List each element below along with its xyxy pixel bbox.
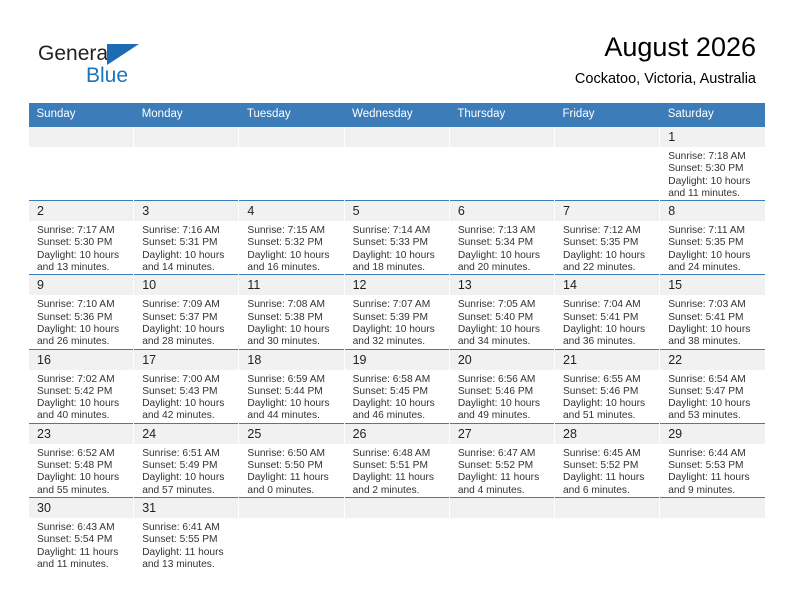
weekday-header-friday: Friday — [555, 103, 660, 127]
calendar-day-sunset-line: Sunset: 5:55 PM — [142, 534, 234, 546]
calendar-day-number: 26 — [345, 424, 449, 445]
weekday-header-tuesday: Tuesday — [239, 103, 344, 127]
calendar-day-info: Sunrise: 7:00 AMSunset: 5:43 PMDaylight:… — [134, 371, 238, 423]
calendar-day-sunrise-line: Sunrise: 7:02 AM — [37, 374, 129, 386]
calendar-day-info: Sunrise: 7:04 AMSunset: 5:41 PMDaylight:… — [555, 296, 659, 348]
calendar-day-number: 1 — [660, 127, 765, 148]
calendar-day-cell[interactable]: 27Sunrise: 6:47 AMSunset: 5:52 PMDayligh… — [449, 423, 554, 497]
calendar-day-number: 7 — [555, 201, 659, 222]
calendar-day-cell[interactable]: 6Sunrise: 7:13 AMSunset: 5:34 PMDaylight… — [449, 201, 554, 275]
calendar-day-daylight-line: and 57 minutes. — [142, 485, 234, 497]
calendar-day-daylight-line: Daylight: 11 hours — [353, 472, 445, 484]
calendar-day-sunrise-line: Sunrise: 7:18 AM — [668, 151, 761, 163]
calendar-day-cell[interactable]: 13Sunrise: 7:05 AMSunset: 5:40 PMDayligh… — [449, 275, 554, 349]
calendar-day-number: 18 — [239, 350, 343, 371]
calendar-day-daylight-line: Daylight: 10 hours — [668, 176, 761, 188]
calendar-day-number: 15 — [660, 275, 765, 296]
calendar-day-sunrise-line: Sunrise: 6:55 AM — [563, 374, 655, 386]
calendar-day-sunset-line: Sunset: 5:38 PM — [247, 312, 339, 324]
calendar-day-daylight-line: Daylight: 10 hours — [668, 250, 761, 262]
calendar-day-cell-empty — [555, 497, 660, 571]
calendar-day-number: 3 — [134, 201, 238, 222]
calendar-day-cell[interactable]: 21Sunrise: 6:55 AMSunset: 5:46 PMDayligh… — [555, 349, 660, 423]
calendar-day-info: Sunrise: 6:55 AMSunset: 5:46 PMDaylight:… — [555, 371, 659, 423]
calendar-day-daylight-line: Daylight: 10 hours — [353, 398, 445, 410]
calendar-day-info: Sunrise: 6:54 AMSunset: 5:47 PMDaylight:… — [660, 371, 765, 423]
calendar-day-sunset-line: Sunset: 5:34 PM — [458, 237, 550, 249]
calendar-day-number: 6 — [450, 201, 554, 222]
calendar-day-daylight-line: Daylight: 11 hours — [668, 472, 761, 484]
calendar-day-sunrise-line: Sunrise: 7:03 AM — [668, 299, 761, 311]
calendar-day-sunset-line: Sunset: 5:32 PM — [247, 237, 339, 249]
calendar-day-daylight-line: and 53 minutes. — [668, 410, 761, 422]
calendar-day-sunset-line: Sunset: 5:42 PM — [37, 386, 129, 398]
calendar-day-number: 30 — [29, 498, 133, 519]
calendar-day-info: Sunrise: 6:51 AMSunset: 5:49 PMDaylight:… — [134, 445, 238, 497]
calendar-day-sunset-line: Sunset: 5:39 PM — [353, 312, 445, 324]
calendar-day-daylight-line: and 28 minutes. — [142, 336, 234, 348]
calendar-day-sunrise-line: Sunrise: 6:56 AM — [458, 374, 550, 386]
calendar-day-sunrise-line: Sunrise: 7:09 AM — [142, 299, 234, 311]
calendar-day-info: Sunrise: 6:45 AMSunset: 5:52 PMDaylight:… — [555, 445, 659, 497]
calendar-day-daylight-line: and 38 minutes. — [668, 336, 761, 348]
calendar-day-number — [239, 127, 343, 148]
calendar-day-daylight-line: and 44 minutes. — [247, 410, 339, 422]
calendar-day-sunset-line: Sunset: 5:53 PM — [668, 460, 761, 472]
calendar-day-cell[interactable]: 16Sunrise: 7:02 AMSunset: 5:42 PMDayligh… — [29, 349, 134, 423]
calendar-day-cell[interactable]: 29Sunrise: 6:44 AMSunset: 5:53 PMDayligh… — [660, 423, 765, 497]
calendar-day-sunset-line: Sunset: 5:33 PM — [353, 237, 445, 249]
calendar-day-daylight-line: and 34 minutes. — [458, 336, 550, 348]
calendar-day-number: 21 — [555, 350, 659, 371]
calendar-day-cell[interactable]: 2Sunrise: 7:17 AMSunset: 5:30 PMDaylight… — [29, 201, 134, 275]
calendar-day-number: 23 — [29, 424, 133, 445]
calendar-day-daylight-line: Daylight: 10 hours — [458, 398, 550, 410]
calendar-day-daylight-line: Daylight: 10 hours — [247, 250, 339, 262]
brand-logo[interactable]: General Blue — [38, 42, 218, 90]
calendar-day-daylight-line: Daylight: 10 hours — [353, 250, 445, 262]
calendar-day-sunrise-line: Sunrise: 6:47 AM — [458, 448, 550, 460]
calendar-day-number — [134, 127, 238, 148]
calendar-day-cell[interactable]: 12Sunrise: 7:07 AMSunset: 5:39 PMDayligh… — [344, 275, 449, 349]
brand-name-blue: Blue — [86, 64, 128, 88]
calendar-day-daylight-line: and 36 minutes. — [563, 336, 655, 348]
calendar-day-sunrise-line: Sunrise: 6:48 AM — [353, 448, 445, 460]
brand-triangle-icon — [107, 44, 139, 65]
calendar-day-cell[interactable]: 22Sunrise: 6:54 AMSunset: 5:47 PMDayligh… — [660, 349, 765, 423]
calendar-day-sunset-line: Sunset: 5:43 PM — [142, 386, 234, 398]
calendar-day-daylight-line: and 26 minutes. — [37, 336, 129, 348]
calendar-day-info: Sunrise: 7:07 AMSunset: 5:39 PMDaylight:… — [345, 296, 449, 348]
calendar-day-info: Sunrise: 7:16 AMSunset: 5:31 PMDaylight:… — [134, 222, 238, 274]
calendar-day-cell-empty — [239, 127, 344, 201]
calendar-page: General Blue August 2026 Cockatoo, Victo… — [0, 0, 792, 612]
calendar-day-info: Sunrise: 6:52 AMSunset: 5:48 PMDaylight:… — [29, 445, 133, 497]
calendar-day-number — [29, 127, 133, 148]
calendar-day-info: Sunrise: 6:58 AMSunset: 5:45 PMDaylight:… — [345, 371, 449, 423]
calendar-day-number: 12 — [345, 275, 449, 296]
calendar-day-info: Sunrise: 7:03 AMSunset: 5:41 PMDaylight:… — [660, 296, 765, 348]
calendar-day-daylight-line: and 6 minutes. — [563, 485, 655, 497]
calendar-day-info: Sunrise: 7:18 AMSunset: 5:30 PMDaylight:… — [660, 148, 765, 200]
calendar-day-cell[interactable]: 24Sunrise: 6:51 AMSunset: 5:49 PMDayligh… — [134, 423, 239, 497]
calendar-day-info: Sunrise: 7:15 AMSunset: 5:32 PMDaylight:… — [239, 222, 343, 274]
calendar-day-daylight-line: and 9 minutes. — [668, 485, 761, 497]
calendar-day-sunrise-line: Sunrise: 7:10 AM — [37, 299, 129, 311]
calendar-day-daylight-line: and 20 minutes. — [458, 262, 550, 274]
calendar-day-number: 9 — [29, 275, 133, 296]
calendar-day-sunrise-line: Sunrise: 6:45 AM — [563, 448, 655, 460]
calendar-day-cell-empty — [555, 127, 660, 201]
calendar-day-cell[interactable]: 15Sunrise: 7:03 AMSunset: 5:41 PMDayligh… — [660, 275, 765, 349]
calendar-day-number: 2 — [29, 201, 133, 222]
calendar-day-sunset-line: Sunset: 5:46 PM — [458, 386, 550, 398]
calendar-day-daylight-line: and 51 minutes. — [563, 410, 655, 422]
calendar-day-sunrise-line: Sunrise: 6:41 AM — [142, 522, 234, 534]
page-subtitle: Cockatoo, Victoria, Australia — [575, 68, 756, 90]
calendar-day-sunset-line: Sunset: 5:52 PM — [563, 460, 655, 472]
calendar-day-daylight-line: Daylight: 10 hours — [563, 324, 655, 336]
calendar-day-cell[interactable]: 28Sunrise: 6:45 AMSunset: 5:52 PMDayligh… — [555, 423, 660, 497]
calendar-day-cell[interactable]: 1Sunrise: 7:18 AMSunset: 5:30 PMDaylight… — [660, 127, 765, 201]
calendar-day-daylight-line: and 32 minutes. — [353, 336, 445, 348]
calendar-day-daylight-line: Daylight: 10 hours — [37, 324, 129, 336]
calendar-day-sunset-line: Sunset: 5:45 PM — [353, 386, 445, 398]
calendar-day-daylight-line: Daylight: 10 hours — [142, 472, 234, 484]
weekday-header-row: Sunday Monday Tuesday Wednesday Thursday… — [29, 103, 766, 127]
calendar-day-sunrise-line: Sunrise: 7:11 AM — [668, 225, 761, 237]
calendar-day-number — [239, 498, 343, 519]
calendar-day-number — [345, 127, 449, 148]
calendar-day-sunset-line: Sunset: 5:49 PM — [142, 460, 234, 472]
calendar-day-cell[interactable]: 14Sunrise: 7:04 AMSunset: 5:41 PMDayligh… — [555, 275, 660, 349]
weekday-header-monday: Monday — [134, 103, 239, 127]
calendar-day-info: Sunrise: 6:41 AMSunset: 5:55 PMDaylight:… — [134, 519, 238, 571]
calendar-day-sunset-line: Sunset: 5:50 PM — [247, 460, 339, 472]
weekday-header-sunday: Sunday — [29, 103, 134, 127]
calendar-day-number: 27 — [450, 424, 554, 445]
calendar-day-number: 5 — [345, 201, 449, 222]
calendar-day-daylight-line: and 30 minutes. — [247, 336, 339, 348]
calendar-day-daylight-line: Daylight: 10 hours — [458, 324, 550, 336]
calendar-day-daylight-line: and 42 minutes. — [142, 410, 234, 422]
calendar-day-cell[interactable]: 7Sunrise: 7:12 AMSunset: 5:35 PMDaylight… — [555, 201, 660, 275]
calendar-day-sunrise-line: Sunrise: 6:50 AM — [247, 448, 339, 460]
calendar-day-daylight-line: Daylight: 10 hours — [563, 250, 655, 262]
calendar-day-daylight-line: Daylight: 10 hours — [142, 398, 234, 410]
calendar-day-cell-empty — [660, 497, 765, 571]
calendar-day-sunrise-line: Sunrise: 6:51 AM — [142, 448, 234, 460]
calendar-day-cell[interactable]: 19Sunrise: 6:58 AMSunset: 5:45 PMDayligh… — [344, 349, 449, 423]
title-block: August 2026 Cockatoo, Victoria, Australi… — [575, 30, 756, 90]
calendar-day-info: Sunrise: 6:44 AMSunset: 5:53 PMDaylight:… — [660, 445, 765, 497]
calendar-day-daylight-line: Daylight: 10 hours — [247, 324, 339, 336]
calendar-day-daylight-line: and 46 minutes. — [353, 410, 445, 422]
calendar-day-number: 28 — [555, 424, 659, 445]
calendar-day-sunset-line: Sunset: 5:41 PM — [563, 312, 655, 324]
calendar-day-number — [660, 498, 765, 519]
calendar-day-daylight-line: Daylight: 10 hours — [458, 250, 550, 262]
calendar-day-cell-empty — [344, 127, 449, 201]
calendar-day-cell[interactable]: 3Sunrise: 7:16 AMSunset: 5:31 PMDaylight… — [134, 201, 239, 275]
calendar-day-number: 10 — [134, 275, 238, 296]
calendar-day-info: Sunrise: 7:11 AMSunset: 5:35 PMDaylight:… — [660, 222, 765, 274]
calendar-day-daylight-line: Daylight: 10 hours — [563, 398, 655, 410]
calendar-day-daylight-line: and 18 minutes. — [353, 262, 445, 274]
calendar-day-number: 8 — [660, 201, 765, 222]
calendar-day-sunrise-line: Sunrise: 6:52 AM — [37, 448, 129, 460]
calendar-day-number: 22 — [660, 350, 765, 371]
calendar-day-sunset-line: Sunset: 5:41 PM — [668, 312, 761, 324]
calendar-day-cell-empty — [449, 497, 554, 571]
calendar-day-sunrise-line: Sunrise: 7:17 AM — [37, 225, 129, 237]
calendar-day-sunset-line: Sunset: 5:52 PM — [458, 460, 550, 472]
calendar-day-info: Sunrise: 7:12 AMSunset: 5:35 PMDaylight:… — [555, 222, 659, 274]
calendar-day-daylight-line: Daylight: 10 hours — [668, 398, 761, 410]
calendar-day-cell[interactable]: 30Sunrise: 6:43 AMSunset: 5:54 PMDayligh… — [29, 497, 134, 571]
calendar-day-number — [450, 498, 554, 519]
calendar-day-sunrise-line: Sunrise: 7:08 AM — [247, 299, 339, 311]
calendar-day-info: Sunrise: 7:13 AMSunset: 5:34 PMDaylight:… — [450, 222, 554, 274]
calendar-week-row: 23Sunrise: 6:52 AMSunset: 5:48 PMDayligh… — [29, 423, 766, 497]
calendar-day-sunset-line: Sunset: 5:40 PM — [458, 312, 550, 324]
calendar-day-cell[interactable]: 17Sunrise: 7:00 AMSunset: 5:43 PMDayligh… — [134, 349, 239, 423]
calendar-day-daylight-line: Daylight: 11 hours — [563, 472, 655, 484]
calendar-week-row: 9Sunrise: 7:10 AMSunset: 5:36 PMDaylight… — [29, 275, 766, 349]
calendar-day-sunrise-line: Sunrise: 6:44 AM — [668, 448, 761, 460]
calendar-day-cell-empty — [239, 497, 344, 571]
weekday-header-wednesday: Wednesday — [344, 103, 449, 127]
calendar-day-sunrise-line: Sunrise: 7:12 AM — [563, 225, 655, 237]
calendar-day-info: Sunrise: 6:59 AMSunset: 5:44 PMDaylight:… — [239, 371, 343, 423]
calendar-day-info: Sunrise: 7:05 AMSunset: 5:40 PMDaylight:… — [450, 296, 554, 348]
calendar-day-daylight-line: Daylight: 10 hours — [37, 250, 129, 262]
calendar-day-info: Sunrise: 7:10 AMSunset: 5:36 PMDaylight:… — [29, 296, 133, 348]
calendar-day-daylight-line: Daylight: 10 hours — [142, 324, 234, 336]
calendar-day-daylight-line: Daylight: 10 hours — [142, 250, 234, 262]
calendar-day-cell[interactable]: 31Sunrise: 6:41 AMSunset: 5:55 PMDayligh… — [134, 497, 239, 571]
calendar-day-daylight-line: and 24 minutes. — [668, 262, 761, 274]
brand-name-general: General — [38, 42, 113, 66]
calendar-day-number: 29 — [660, 424, 765, 445]
page-title: August 2026 — [575, 30, 756, 64]
calendar-day-cell[interactable]: 10Sunrise: 7:09 AMSunset: 5:37 PMDayligh… — [134, 275, 239, 349]
calendar-body: 1Sunrise: 7:18 AMSunset: 5:30 PMDaylight… — [29, 127, 766, 572]
calendar-day-cell[interactable]: 11Sunrise: 7:08 AMSunset: 5:38 PMDayligh… — [239, 275, 344, 349]
calendar-day-cell-empty — [29, 127, 134, 201]
page-header: General Blue August 2026 Cockatoo, Victo… — [0, 0, 792, 103]
calendar-day-sunrise-line: Sunrise: 6:43 AM — [37, 522, 129, 534]
calendar-day-daylight-line: Daylight: 11 hours — [142, 547, 234, 559]
calendar-day-daylight-line: Daylight: 10 hours — [353, 324, 445, 336]
calendar-day-sunset-line: Sunset: 5:36 PM — [37, 312, 129, 324]
calendar-week-row: 1Sunrise: 7:18 AMSunset: 5:30 PMDaylight… — [29, 127, 766, 201]
calendar-day-sunset-line: Sunset: 5:54 PM — [37, 534, 129, 546]
calendar-day-number — [555, 127, 659, 148]
calendar-day-number: 19 — [345, 350, 449, 371]
calendar-day-info: Sunrise: 7:14 AMSunset: 5:33 PMDaylight:… — [345, 222, 449, 274]
calendar-day-sunrise-line: Sunrise: 7:04 AM — [563, 299, 655, 311]
calendar-grid: Sunday Monday Tuesday Wednesday Thursday… — [28, 103, 765, 571]
calendar-day-number: 4 — [239, 201, 343, 222]
calendar-day-number — [345, 498, 449, 519]
calendar-day-sunrise-line: Sunrise: 7:07 AM — [353, 299, 445, 311]
calendar-day-daylight-line: and 13 minutes. — [142, 559, 234, 571]
calendar-day-sunset-line: Sunset: 5:30 PM — [37, 237, 129, 249]
calendar-day-info: Sunrise: 6:50 AMSunset: 5:50 PMDaylight:… — [239, 445, 343, 497]
calendar-day-cell[interactable]: 23Sunrise: 6:52 AMSunset: 5:48 PMDayligh… — [29, 423, 134, 497]
calendar-day-sunset-line: Sunset: 5:31 PM — [142, 237, 234, 249]
calendar-day-sunset-line: Sunset: 5:44 PM — [247, 386, 339, 398]
calendar-day-number: 24 — [134, 424, 238, 445]
calendar-day-number — [555, 498, 659, 519]
calendar-week-row: 30Sunrise: 6:43 AMSunset: 5:54 PMDayligh… — [29, 497, 766, 571]
calendar-day-daylight-line: Daylight: 11 hours — [37, 547, 129, 559]
calendar-day-sunset-line: Sunset: 5:51 PM — [353, 460, 445, 472]
calendar-week-row: 16Sunrise: 7:02 AMSunset: 5:42 PMDayligh… — [29, 349, 766, 423]
calendar-week-row: 2Sunrise: 7:17 AMSunset: 5:30 PMDaylight… — [29, 201, 766, 275]
calendar-day-cell-empty — [344, 497, 449, 571]
calendar-day-daylight-line: and 11 minutes. — [668, 188, 761, 200]
calendar-day-daylight-line: and 55 minutes. — [37, 485, 129, 497]
calendar-day-daylight-line: and 49 minutes. — [458, 410, 550, 422]
calendar-day-daylight-line: and 14 minutes. — [142, 262, 234, 274]
calendar-day-daylight-line: Daylight: 10 hours — [668, 324, 761, 336]
calendar-day-cell[interactable]: 4Sunrise: 7:15 AMSunset: 5:32 PMDaylight… — [239, 201, 344, 275]
calendar-day-cell[interactable]: 25Sunrise: 6:50 AMSunset: 5:50 PMDayligh… — [239, 423, 344, 497]
calendar-day-daylight-line: and 22 minutes. — [563, 262, 655, 274]
calendar-day-number: 16 — [29, 350, 133, 371]
calendar-day-daylight-line: and 11 minutes. — [37, 559, 129, 571]
calendar-day-number: 31 — [134, 498, 238, 519]
calendar-day-cell[interactable]: 26Sunrise: 6:48 AMSunset: 5:51 PMDayligh… — [344, 423, 449, 497]
calendar-day-cell-empty — [134, 127, 239, 201]
calendar-day-number: 20 — [450, 350, 554, 371]
calendar-day-sunset-line: Sunset: 5:47 PM — [668, 386, 761, 398]
calendar-day-info: Sunrise: 6:43 AMSunset: 5:54 PMDaylight:… — [29, 519, 133, 571]
calendar-day-cell[interactable]: 18Sunrise: 6:59 AMSunset: 5:44 PMDayligh… — [239, 349, 344, 423]
calendar-day-info: Sunrise: 7:09 AMSunset: 5:37 PMDaylight:… — [134, 296, 238, 348]
calendar-day-sunset-line: Sunset: 5:30 PM — [668, 163, 761, 175]
calendar-day-number: 14 — [555, 275, 659, 296]
calendar-day-info: Sunrise: 7:08 AMSunset: 5:38 PMDaylight:… — [239, 296, 343, 348]
calendar-day-sunrise-line: Sunrise: 6:58 AM — [353, 374, 445, 386]
calendar-day-info: Sunrise: 7:17 AMSunset: 5:30 PMDaylight:… — [29, 222, 133, 274]
calendar-day-daylight-line: and 13 minutes. — [37, 262, 129, 274]
calendar-day-sunrise-line: Sunrise: 7:05 AM — [458, 299, 550, 311]
calendar-day-number: 11 — [239, 275, 343, 296]
calendar-day-cell[interactable]: 8Sunrise: 7:11 AMSunset: 5:35 PMDaylight… — [660, 201, 765, 275]
weekday-header-saturday: Saturday — [660, 103, 765, 127]
calendar-day-daylight-line: Daylight: 10 hours — [37, 472, 129, 484]
calendar-day-daylight-line: and 4 minutes. — [458, 485, 550, 497]
calendar-day-cell[interactable]: 9Sunrise: 7:10 AMSunset: 5:36 PMDaylight… — [29, 275, 134, 349]
calendar-day-number — [450, 127, 554, 148]
calendar-day-sunrise-line: Sunrise: 6:54 AM — [668, 374, 761, 386]
calendar-day-number: 25 — [239, 424, 343, 445]
calendar-day-cell[interactable]: 5Sunrise: 7:14 AMSunset: 5:33 PMDaylight… — [344, 201, 449, 275]
calendar-day-sunset-line: Sunset: 5:48 PM — [37, 460, 129, 472]
calendar-day-info: Sunrise: 6:48 AMSunset: 5:51 PMDaylight:… — [345, 445, 449, 497]
calendar-day-sunrise-line: Sunrise: 7:13 AM — [458, 225, 550, 237]
calendar-day-cell-empty — [449, 127, 554, 201]
calendar-day-sunrise-line: Sunrise: 7:16 AM — [142, 225, 234, 237]
calendar-day-sunset-line: Sunset: 5:35 PM — [563, 237, 655, 249]
calendar-day-daylight-line: and 0 minutes. — [247, 485, 339, 497]
calendar-day-daylight-line: and 16 minutes. — [247, 262, 339, 274]
calendar-day-sunset-line: Sunset: 5:37 PM — [142, 312, 234, 324]
calendar-day-daylight-line: Daylight: 11 hours — [458, 472, 550, 484]
calendar-day-daylight-line: Daylight: 11 hours — [247, 472, 339, 484]
weekday-header-thursday: Thursday — [449, 103, 554, 127]
calendar-day-daylight-line: and 40 minutes. — [37, 410, 129, 422]
calendar-day-sunset-line: Sunset: 5:46 PM — [563, 386, 655, 398]
calendar-day-sunrise-line: Sunrise: 6:59 AM — [247, 374, 339, 386]
calendar-day-info: Sunrise: 6:56 AMSunset: 5:46 PMDaylight:… — [450, 371, 554, 423]
calendar-day-sunrise-line: Sunrise: 7:00 AM — [142, 374, 234, 386]
calendar-day-info: Sunrise: 7:02 AMSunset: 5:42 PMDaylight:… — [29, 371, 133, 423]
calendar-day-cell[interactable]: 20Sunrise: 6:56 AMSunset: 5:46 PMDayligh… — [449, 349, 554, 423]
calendar-day-sunrise-line: Sunrise: 7:14 AM — [353, 225, 445, 237]
calendar-day-number: 17 — [134, 350, 238, 371]
calendar-day-daylight-line: and 2 minutes. — [353, 485, 445, 497]
calendar-day-sunset-line: Sunset: 5:35 PM — [668, 237, 761, 249]
calendar-day-daylight-line: Daylight: 10 hours — [247, 398, 339, 410]
calendar-day-sunrise-line: Sunrise: 7:15 AM — [247, 225, 339, 237]
calendar-day-info: Sunrise: 6:47 AMSunset: 5:52 PMDaylight:… — [450, 445, 554, 497]
calendar-day-daylight-line: Daylight: 10 hours — [37, 398, 129, 410]
calendar-day-number: 13 — [450, 275, 554, 296]
